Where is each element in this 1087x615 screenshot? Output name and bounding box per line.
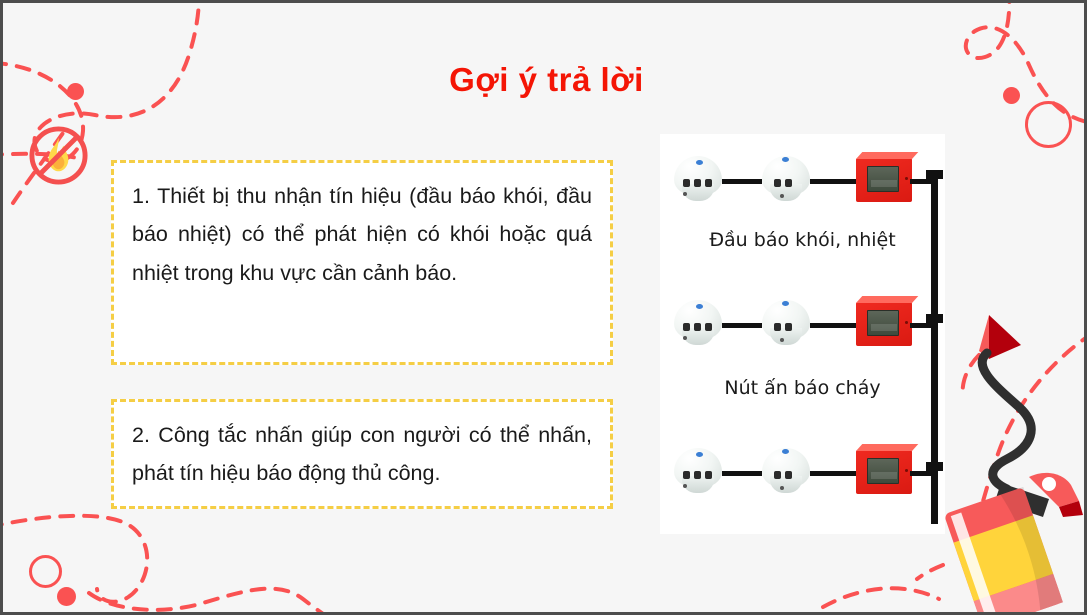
deco-dot-bottom-left: [57, 587, 76, 606]
diagram-wire: [722, 323, 762, 328]
heat-detector: [760, 298, 812, 348]
diagram-row-3: [660, 440, 945, 504]
answer-box-2: 2. Công tắc nhấn giúp con người có thể n…: [111, 399, 613, 509]
fire-extinguisher-icon: [933, 301, 1087, 615]
diagram-row-2: [660, 292, 945, 356]
deco-curve-bottom-center: [823, 588, 939, 607]
slide-canvas: Gợi ý trả lời 1. Thiết bị thu nhận tín h…: [0, 0, 1087, 615]
diagram-wire: [810, 179, 860, 184]
fire-alarm-diagram: Đầu báo khói, nhiệt Nút ấn báo cháy: [660, 134, 945, 534]
heat-detector: [760, 446, 812, 496]
diagram-wire: [810, 471, 860, 476]
deco-curve-bottom-left: [3, 516, 147, 602]
diagram-label-detectors: Đầu báo khói, nhiệt: [660, 229, 945, 251]
smoke-detector: [672, 298, 724, 348]
no-fire-icon: [27, 124, 90, 187]
deco-curve-bottom-left-2: [89, 589, 343, 615]
diagram-wire: [910, 179, 938, 184]
manual-call-point: [856, 450, 912, 494]
diagram-wire: [810, 323, 860, 328]
answer-box-1: 1. Thiết bị thu nhận tín hiệu (đầu báo k…: [111, 160, 613, 365]
smoke-detector: [672, 154, 724, 204]
answer-text-2: 2. Công tắc nhấn giúp con người có thể n…: [132, 423, 592, 485]
diagram-wire: [722, 179, 762, 184]
answer-text-1: 1. Thiết bị thu nhận tín hiệu (đầu báo k…: [132, 184, 592, 285]
deco-ring-bottom-left: [29, 555, 62, 588]
manual-call-point: [856, 302, 912, 346]
page-title: Gợi ý trả lời: [3, 61, 1087, 99]
diagram-row-1: [660, 148, 945, 212]
diagram-wire: [722, 471, 762, 476]
heat-detector: [760, 154, 812, 204]
manual-call-point: [856, 158, 912, 202]
smoke-detector: [672, 446, 724, 496]
deco-ring-top-right: [1025, 101, 1072, 148]
diagram-label-call-point: Nút ấn báo cháy: [660, 377, 945, 399]
